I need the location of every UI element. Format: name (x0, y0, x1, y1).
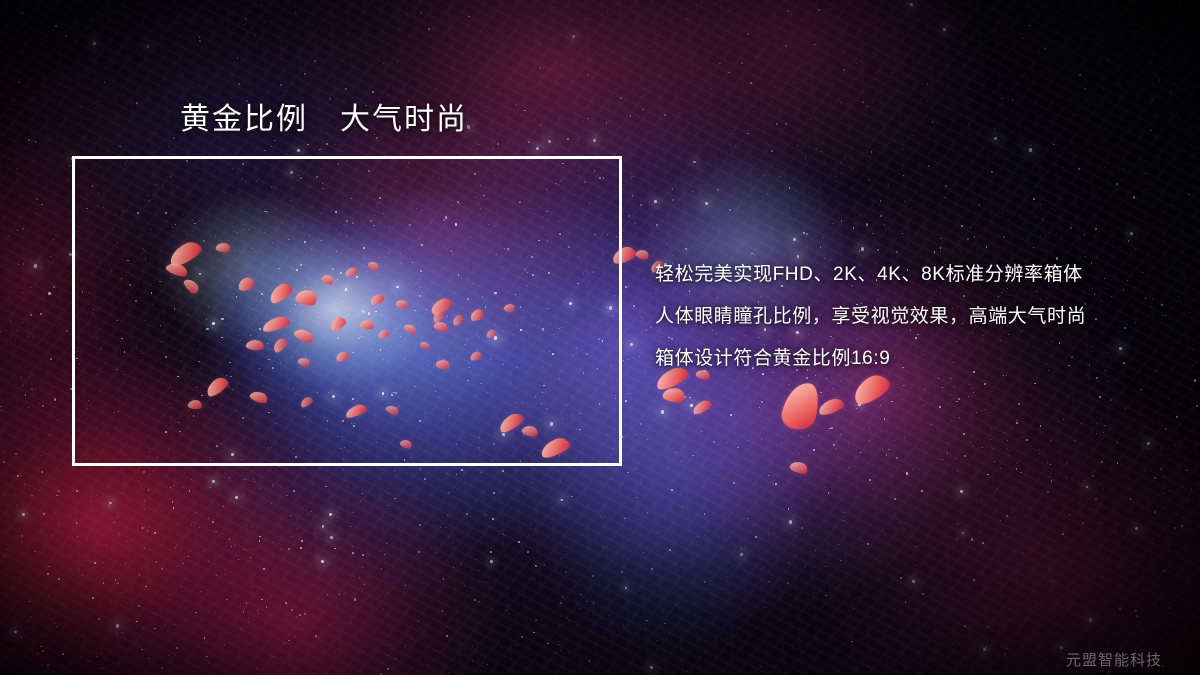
star (41, 455, 42, 456)
star (155, 133, 156, 134)
star (833, 223, 835, 225)
star (658, 143, 659, 144)
star (903, 529, 904, 530)
star (692, 191, 693, 192)
star (876, 79, 877, 80)
star (435, 28, 436, 29)
star (1022, 552, 1023, 553)
star (969, 134, 970, 135)
star (31, 388, 33, 390)
star (55, 25, 57, 27)
star (21, 196, 22, 197)
star (982, 447, 983, 448)
star (1128, 240, 1130, 242)
star (220, 93, 221, 94)
star (793, 82, 794, 83)
star (857, 497, 858, 498)
star (869, 440, 870, 441)
star (559, 644, 560, 645)
star (1099, 396, 1101, 398)
star (859, 597, 860, 598)
star (314, 532, 315, 533)
star (266, 606, 267, 607)
star (22, 541, 23, 542)
star (623, 360, 624, 361)
star (54, 398, 56, 400)
star (183, 509, 184, 510)
star (428, 86, 429, 87)
star (301, 508, 302, 509)
star (34, 83, 35, 84)
star (701, 431, 702, 432)
star (600, 516, 601, 517)
star (41, 471, 43, 473)
star (747, 133, 749, 135)
star (994, 137, 997, 140)
star (947, 443, 948, 444)
star (968, 396, 969, 397)
star (867, 543, 869, 545)
star (626, 329, 627, 330)
star (143, 628, 144, 629)
star (604, 637, 605, 638)
star (280, 84, 282, 86)
star (1050, 70, 1051, 71)
star (735, 129, 736, 130)
star (11, 124, 12, 125)
star (518, 85, 519, 86)
star (699, 21, 700, 22)
star (771, 96, 772, 97)
star (293, 490, 295, 492)
star (271, 21, 272, 22)
star (1002, 212, 1003, 213)
star (41, 204, 43, 206)
star (1151, 99, 1153, 101)
star (884, 224, 885, 225)
star (360, 501, 361, 502)
star (1084, 234, 1086, 236)
star (48, 292, 50, 294)
star (593, 139, 596, 142)
flower-petal (691, 398, 713, 416)
star (820, 392, 821, 393)
star (301, 540, 303, 542)
star (264, 22, 265, 23)
star (945, 470, 946, 471)
star (1003, 236, 1005, 238)
star (982, 542, 984, 544)
star (95, 521, 96, 522)
star (1147, 448, 1148, 449)
star (1135, 249, 1136, 250)
star (640, 204, 642, 206)
star (35, 551, 36, 552)
star (827, 550, 828, 551)
star (34, 645, 35, 646)
star (1130, 498, 1132, 500)
star (872, 52, 873, 53)
star (810, 119, 811, 120)
star (693, 161, 696, 164)
star (387, 655, 388, 656)
star (193, 87, 194, 88)
star (313, 483, 314, 484)
star (436, 650, 437, 651)
star (1026, 439, 1028, 441)
star (957, 470, 958, 471)
star (824, 587, 825, 588)
star (341, 151, 342, 152)
star (23, 51, 24, 52)
star (138, 605, 140, 607)
star (573, 656, 574, 657)
star (448, 492, 449, 493)
star (418, 551, 420, 553)
star (587, 106, 588, 107)
star (149, 617, 150, 618)
star (219, 477, 220, 478)
star (335, 652, 336, 653)
star (729, 209, 731, 211)
star (136, 621, 138, 623)
star (115, 579, 117, 581)
star (30, 314, 32, 316)
star (147, 530, 149, 532)
star (868, 666, 869, 667)
star (215, 531, 216, 532)
star (149, 526, 150, 527)
star (78, 569, 79, 570)
star (259, 540, 261, 542)
star (121, 647, 122, 648)
star (1058, 33, 1059, 34)
star (902, 233, 903, 234)
star (1181, 525, 1183, 527)
star (387, 668, 389, 670)
star (739, 563, 740, 564)
star (58, 490, 60, 492)
star (653, 400, 654, 401)
star (66, 330, 68, 332)
star (293, 83, 294, 84)
star (448, 537, 449, 538)
star (754, 111, 755, 112)
star (656, 640, 657, 641)
star (627, 393, 628, 394)
star (1007, 648, 1008, 649)
star (971, 538, 973, 540)
star (881, 431, 882, 432)
star (650, 666, 653, 669)
star (843, 520, 844, 521)
star (733, 153, 734, 154)
star (35, 141, 37, 143)
star (389, 644, 390, 645)
star (1114, 532, 1115, 533)
star (558, 641, 559, 642)
star (188, 556, 190, 558)
star (339, 594, 340, 595)
star (451, 22, 452, 23)
star (1119, 608, 1121, 610)
star (689, 134, 690, 135)
star (1016, 468, 1018, 470)
star (983, 648, 986, 651)
star (492, 518, 494, 520)
star (118, 534, 119, 535)
star (589, 660, 591, 662)
star (981, 499, 982, 500)
star (892, 72, 893, 73)
star (587, 74, 589, 76)
star (1123, 9, 1124, 10)
star (869, 428, 870, 429)
star (719, 63, 720, 64)
star (34, 605, 35, 606)
star (1106, 129, 1107, 130)
star (1104, 167, 1106, 169)
star (18, 264, 19, 265)
star (61, 496, 62, 497)
star (788, 398, 789, 399)
star (781, 443, 782, 444)
star (825, 566, 826, 567)
star (880, 200, 881, 201)
star (334, 623, 335, 624)
star (359, 577, 360, 578)
star (873, 554, 874, 555)
star (869, 479, 871, 481)
star (1152, 538, 1153, 539)
star (239, 26, 240, 27)
star (180, 22, 181, 23)
star (592, 575, 594, 577)
star (199, 40, 201, 42)
star (857, 155, 858, 156)
star (253, 478, 254, 479)
star (1160, 468, 1162, 470)
star (1, 210, 2, 211)
star (884, 534, 885, 535)
star (83, 634, 84, 635)
star (42, 664, 43, 665)
star (107, 544, 108, 545)
star (216, 575, 217, 576)
star (1073, 24, 1074, 25)
star (1089, 618, 1092, 621)
star (571, 496, 573, 498)
star (77, 536, 78, 537)
star (204, 550, 205, 551)
star (480, 472, 481, 473)
star (620, 97, 622, 99)
star (40, 313, 42, 315)
star (940, 247, 941, 248)
star (28, 139, 30, 141)
star (623, 625, 624, 626)
star (76, 522, 78, 524)
flower-petal (789, 459, 810, 476)
star (1028, 507, 1029, 508)
star (435, 552, 436, 553)
star (285, 643, 286, 644)
star (274, 12, 275, 13)
star (1118, 82, 1119, 83)
star (295, 12, 296, 13)
star (6, 549, 7, 550)
star (628, 215, 629, 216)
star (1064, 124, 1065, 125)
star (629, 646, 630, 647)
star (939, 406, 941, 408)
star (246, 602, 248, 604)
star (964, 455, 966, 457)
star (1049, 232, 1050, 233)
star (1033, 198, 1035, 200)
star (1040, 425, 1042, 427)
star (645, 628, 646, 629)
star (304, 613, 306, 615)
star (364, 584, 365, 585)
star (587, 118, 589, 120)
presentation-slide: 黄金比例 大气时尚 轻松完美实现FHD、2K、4K、8K标准分辨率箱体 人体眼睛… (0, 0, 1200, 675)
star (14, 631, 17, 634)
star (319, 149, 321, 151)
flower-petal (662, 386, 686, 404)
star (347, 486, 348, 487)
star (21, 636, 22, 637)
star (670, 388, 671, 389)
star (1066, 478, 1068, 480)
star (273, 656, 274, 657)
star (767, 193, 768, 194)
star (633, 176, 634, 177)
star (1091, 509, 1092, 510)
star (767, 628, 768, 629)
star (1144, 470, 1145, 471)
star (1060, 646, 1063, 649)
star (418, 139, 419, 140)
star (50, 358, 52, 360)
star (483, 581, 484, 582)
star (388, 493, 389, 494)
body-line-1: 轻松完美实现FHD、2K、4K、8K标准分辨率箱体 (655, 254, 1175, 296)
star (116, 624, 119, 627)
star (994, 461, 995, 462)
star (1095, 31, 1096, 32)
star (509, 652, 510, 653)
star (173, 485, 174, 486)
star (509, 614, 510, 615)
star (504, 535, 505, 536)
star (840, 434, 841, 435)
star (42, 405, 44, 407)
star (1157, 506, 1158, 507)
star (1000, 170, 1001, 171)
star (1092, 475, 1094, 477)
star (957, 538, 958, 539)
star (17, 180, 18, 181)
star (788, 508, 789, 509)
star (791, 507, 792, 508)
star (549, 136, 550, 137)
star (949, 456, 950, 457)
star (1150, 130, 1151, 131)
star (36, 213, 37, 214)
star (485, 514, 486, 515)
media-placeholder-frame[interactable] (72, 156, 622, 466)
star (1176, 43, 1177, 44)
star (229, 538, 231, 540)
star (480, 31, 481, 32)
star (1178, 296, 1179, 297)
star (540, 67, 541, 68)
star (664, 623, 666, 625)
star (8, 236, 9, 237)
star (424, 478, 426, 480)
star (745, 547, 746, 548)
star (45, 648, 46, 649)
star (995, 400, 996, 401)
star (912, 580, 915, 583)
star (539, 44, 540, 45)
star (671, 489, 673, 491)
star (15, 339, 16, 340)
star (14, 552, 15, 553)
star (773, 484, 774, 485)
star (125, 563, 126, 564)
star (1102, 576, 1103, 577)
star (986, 547, 987, 548)
star (420, 468, 421, 469)
star (271, 503, 272, 504)
star (654, 200, 657, 203)
star (534, 118, 535, 119)
star (751, 153, 752, 154)
star (628, 286, 629, 287)
star (521, 114, 522, 115)
star (1020, 472, 1022, 474)
star (880, 215, 881, 216)
star (687, 671, 688, 672)
star (148, 40, 149, 41)
star (625, 400, 627, 402)
star (1070, 227, 1072, 229)
star (280, 549, 281, 550)
star (604, 91, 605, 92)
star (225, 574, 226, 575)
star (880, 405, 881, 406)
star (644, 88, 645, 89)
star (651, 568, 653, 570)
star (489, 526, 490, 527)
star (469, 147, 470, 148)
star (943, 28, 946, 31)
star (1168, 398, 1169, 399)
star (50, 256, 51, 257)
star (792, 92, 793, 93)
star (991, 428, 992, 429)
star (362, 567, 363, 568)
star (305, 645, 306, 646)
star (1071, 221, 1072, 222)
star (355, 598, 356, 599)
star (21, 12, 23, 14)
star (639, 349, 640, 350)
star (1, 410, 2, 411)
star (1040, 204, 1041, 205)
